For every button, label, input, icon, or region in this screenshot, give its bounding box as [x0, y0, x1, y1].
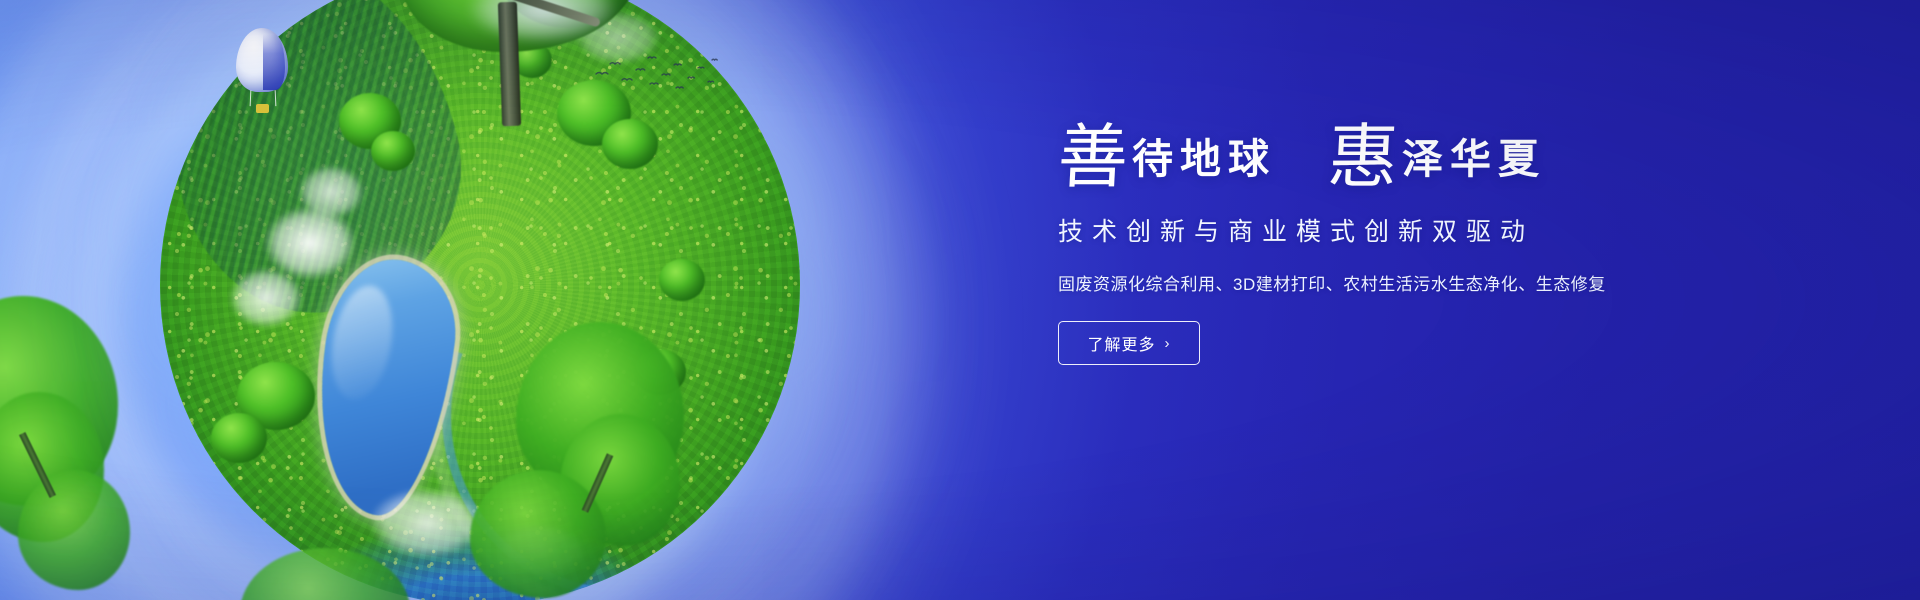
- rim-tree: [18, 470, 130, 590]
- balloon-basket: [256, 104, 269, 113]
- headline-char-primary-2: 惠: [1326, 122, 1404, 192]
- planet-cloud-puff: [288, 157, 374, 227]
- learn-more-button[interactable]: 了解更多 ›: [1058, 321, 1200, 365]
- headline-text-1: 待地球: [1132, 139, 1276, 180]
- headline-text-2: 泽华夏: [1402, 139, 1546, 180]
- planet-tree-clump: [602, 119, 658, 169]
- learn-more-label: 了解更多: [1087, 331, 1155, 355]
- planet-cloud-puff: [218, 259, 314, 337]
- hero-description: 固废资源化综合利用、3D建材打印、农村生活污水生态净化、生态修复: [1058, 270, 1758, 295]
- hero-banner: 善 待地球 惠 泽华夏 技术创新与商业模式创新双驱动 固废资源化综合利用、3D建…: [0, 0, 1920, 600]
- hero-subtitle: 技术创新与商业模式创新双驱动: [1058, 212, 1758, 248]
- hero-copy: 善 待地球 惠 泽华夏 技术创新与商业模式创新双驱动 固废资源化综合利用、3D建…: [1058, 118, 1758, 365]
- hot-air-balloon: [236, 28, 288, 116]
- headline-char-primary-1: 善: [1056, 122, 1134, 192]
- bird-flock-icon: [592, 48, 722, 96]
- rim-tree: [470, 470, 606, 598]
- page-title: 善 待地球 惠 泽华夏: [1058, 118, 1758, 188]
- planet-tree-clump: [211, 413, 267, 463]
- chevron-right-icon: ›: [1165, 336, 1171, 351]
